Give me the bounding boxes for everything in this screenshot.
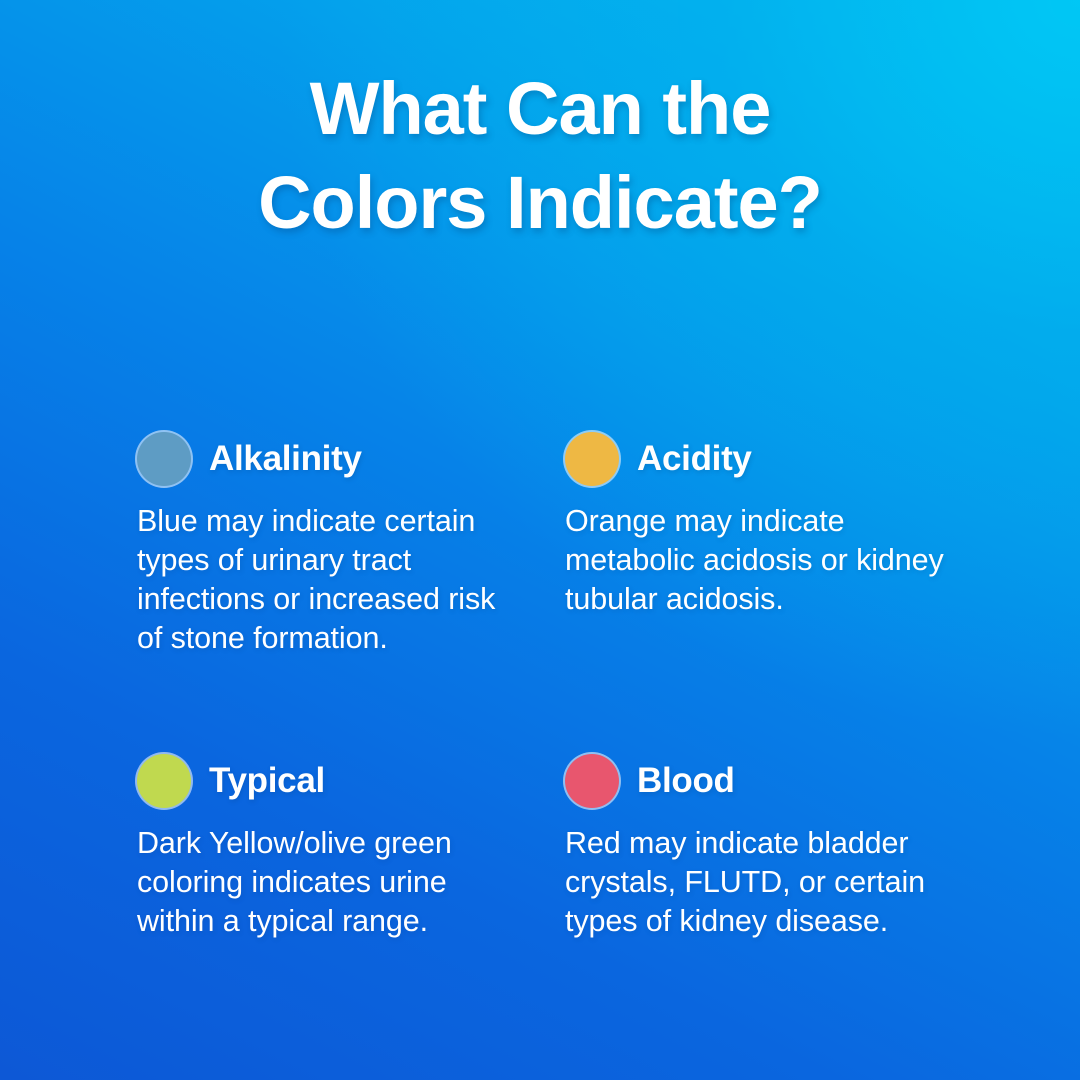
page-title-line-1: What Can the (70, 62, 1010, 156)
page-title-line-2: Colors Indicate? (70, 156, 1010, 250)
legend-entry-alkalinity-label: Alkalinity (209, 439, 362, 479)
legend-entry-typical: Typical Dark Yellow/olive green coloring… (137, 754, 565, 941)
urine-color-infographic: What Can the Colors Indicate? Alkalinity… (0, 0, 1080, 1080)
legend-entry-blood-label: Blood (637, 761, 735, 801)
legend-entry-alkalinity-header: Alkalinity (137, 432, 565, 486)
blood-color-swatch (565, 754, 619, 808)
legend-entry-typical-header: Typical (137, 754, 565, 808)
legend-entry-acidity-header: Acidity (565, 432, 957, 486)
legend-entry-typical-label: Typical (209, 761, 325, 801)
legend-entry-blood-description: Red may indicate bladder crystals, FLUTD… (565, 824, 945, 941)
legend-entry-blood: Blood Red may indicate bladder crystals,… (565, 754, 957, 941)
alkalinity-color-swatch (137, 432, 191, 486)
color-legend-grid: Alkalinity Blue may indicate certain typ… (137, 432, 957, 941)
legend-entry-acidity: Acidity Orange may indicate metabolic ac… (565, 432, 957, 658)
acidity-color-swatch (565, 432, 619, 486)
legend-entry-acidity-label: Acidity (637, 439, 752, 479)
legend-entry-typical-description: Dark Yellow/olive green coloring indicat… (137, 824, 517, 941)
page-title: What Can the Colors Indicate? (0, 62, 1080, 250)
typical-color-swatch (137, 754, 191, 808)
legend-entry-alkalinity: Alkalinity Blue may indicate certain typ… (137, 432, 565, 658)
legend-entry-alkalinity-description: Blue may indicate certain types of urina… (137, 502, 517, 658)
legend-entry-acidity-description: Orange may indicate metabolic acidosis o… (565, 502, 945, 619)
legend-entry-blood-header: Blood (565, 754, 957, 808)
